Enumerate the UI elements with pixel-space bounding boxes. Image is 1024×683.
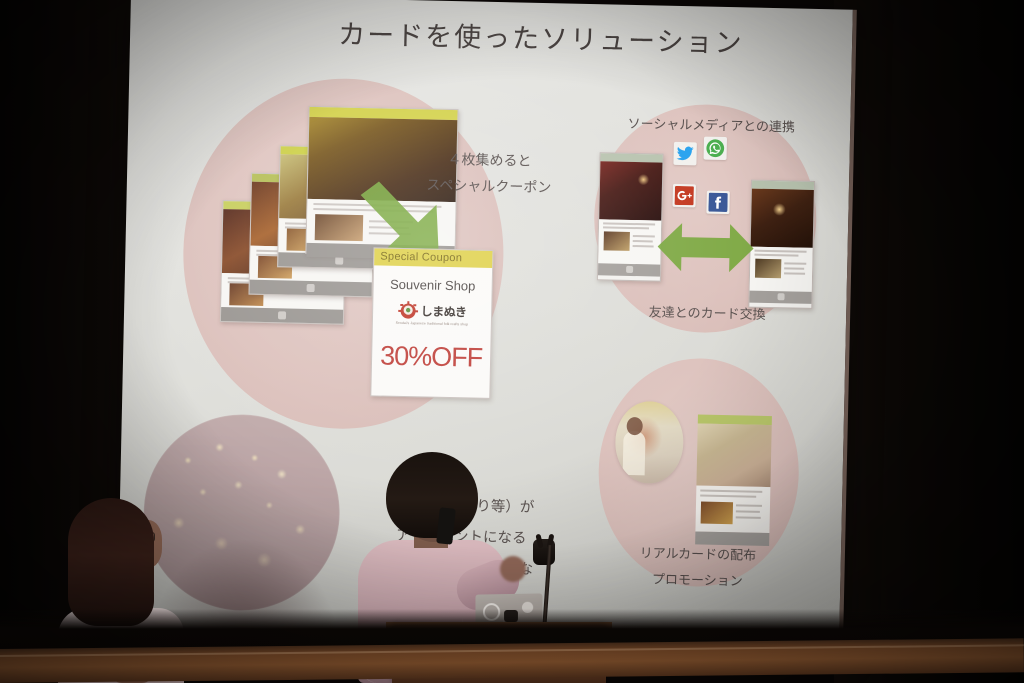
coupon-label-line2: スペシャルクーポン xyxy=(399,172,580,202)
coupon-discount: 30%OFF xyxy=(372,340,491,374)
promo-label-line2: プロモーション xyxy=(594,566,801,596)
phone-text-line xyxy=(603,222,655,225)
twitter-icon xyxy=(673,142,696,165)
whatsapp-icon xyxy=(704,137,727,160)
phone-text-line xyxy=(633,240,653,242)
presenter-hand xyxy=(500,556,526,582)
phone-text-line xyxy=(633,245,654,247)
card-text-line xyxy=(736,510,760,512)
phone-body xyxy=(598,219,661,264)
assistant-hair xyxy=(68,498,154,626)
card-thumbnail xyxy=(701,502,733,525)
phone-text-line xyxy=(784,267,804,269)
green-double-arrow-icon xyxy=(657,218,754,278)
coupon-header: Special Coupon xyxy=(374,248,492,268)
phone-home-bar xyxy=(598,263,660,276)
shimanuki-logo: しまぬき xyxy=(373,300,491,321)
coupon-shop-name: Souvenir Shop xyxy=(374,276,492,294)
phone-body xyxy=(750,247,813,292)
presentation-photo: カードを使ったソリューション xyxy=(0,0,1024,683)
promo-label: リアルカードの配布 プロモーション xyxy=(594,540,801,596)
promo-card-mockup xyxy=(695,414,772,546)
card-text-line xyxy=(736,504,762,506)
phone-thumbnail xyxy=(755,259,781,279)
card-body xyxy=(695,485,770,533)
card-text-line xyxy=(700,495,756,498)
room-right-wall xyxy=(834,0,1024,683)
phone-mockup-left xyxy=(597,152,664,281)
google-plus-icon xyxy=(672,184,695,207)
coupon-label-line1: ４枚集めると xyxy=(399,146,580,176)
phone-thumbnail xyxy=(604,231,630,251)
special-coupon-card: Special Coupon Souvenir Shop xyxy=(370,247,493,399)
card-thumbnail xyxy=(315,214,364,241)
logo-subtitle: Sendai's Japanese traditional folk craft… xyxy=(373,320,491,327)
phone-photo xyxy=(751,189,814,248)
facebook-icon xyxy=(706,191,729,214)
social-label-bottom: 友達とのカード交換 xyxy=(602,300,812,324)
phone-mockup-right xyxy=(748,180,815,309)
phone-text-line xyxy=(633,235,655,237)
card-home-bar xyxy=(249,280,371,297)
phone-photo xyxy=(599,161,662,220)
presenter-hair xyxy=(386,452,478,538)
phone-text-line xyxy=(755,250,807,253)
phone-text-line xyxy=(784,262,806,264)
phone-home-bar xyxy=(749,291,811,304)
coupon-label: ４枚集めると スペシャルクーポン xyxy=(399,146,580,202)
card-text-line xyxy=(736,516,761,518)
phone-text-line xyxy=(784,272,805,274)
card-text-line xyxy=(700,490,762,493)
card-home-bar xyxy=(221,307,343,324)
card-photo xyxy=(696,423,771,487)
logo-kokeshi-icon xyxy=(398,301,418,319)
logo-text: しまぬき xyxy=(421,302,467,320)
phone-text-line xyxy=(603,226,649,229)
phone-text-line xyxy=(754,254,798,256)
slide-title: カードを使ったソリューション xyxy=(338,13,759,61)
